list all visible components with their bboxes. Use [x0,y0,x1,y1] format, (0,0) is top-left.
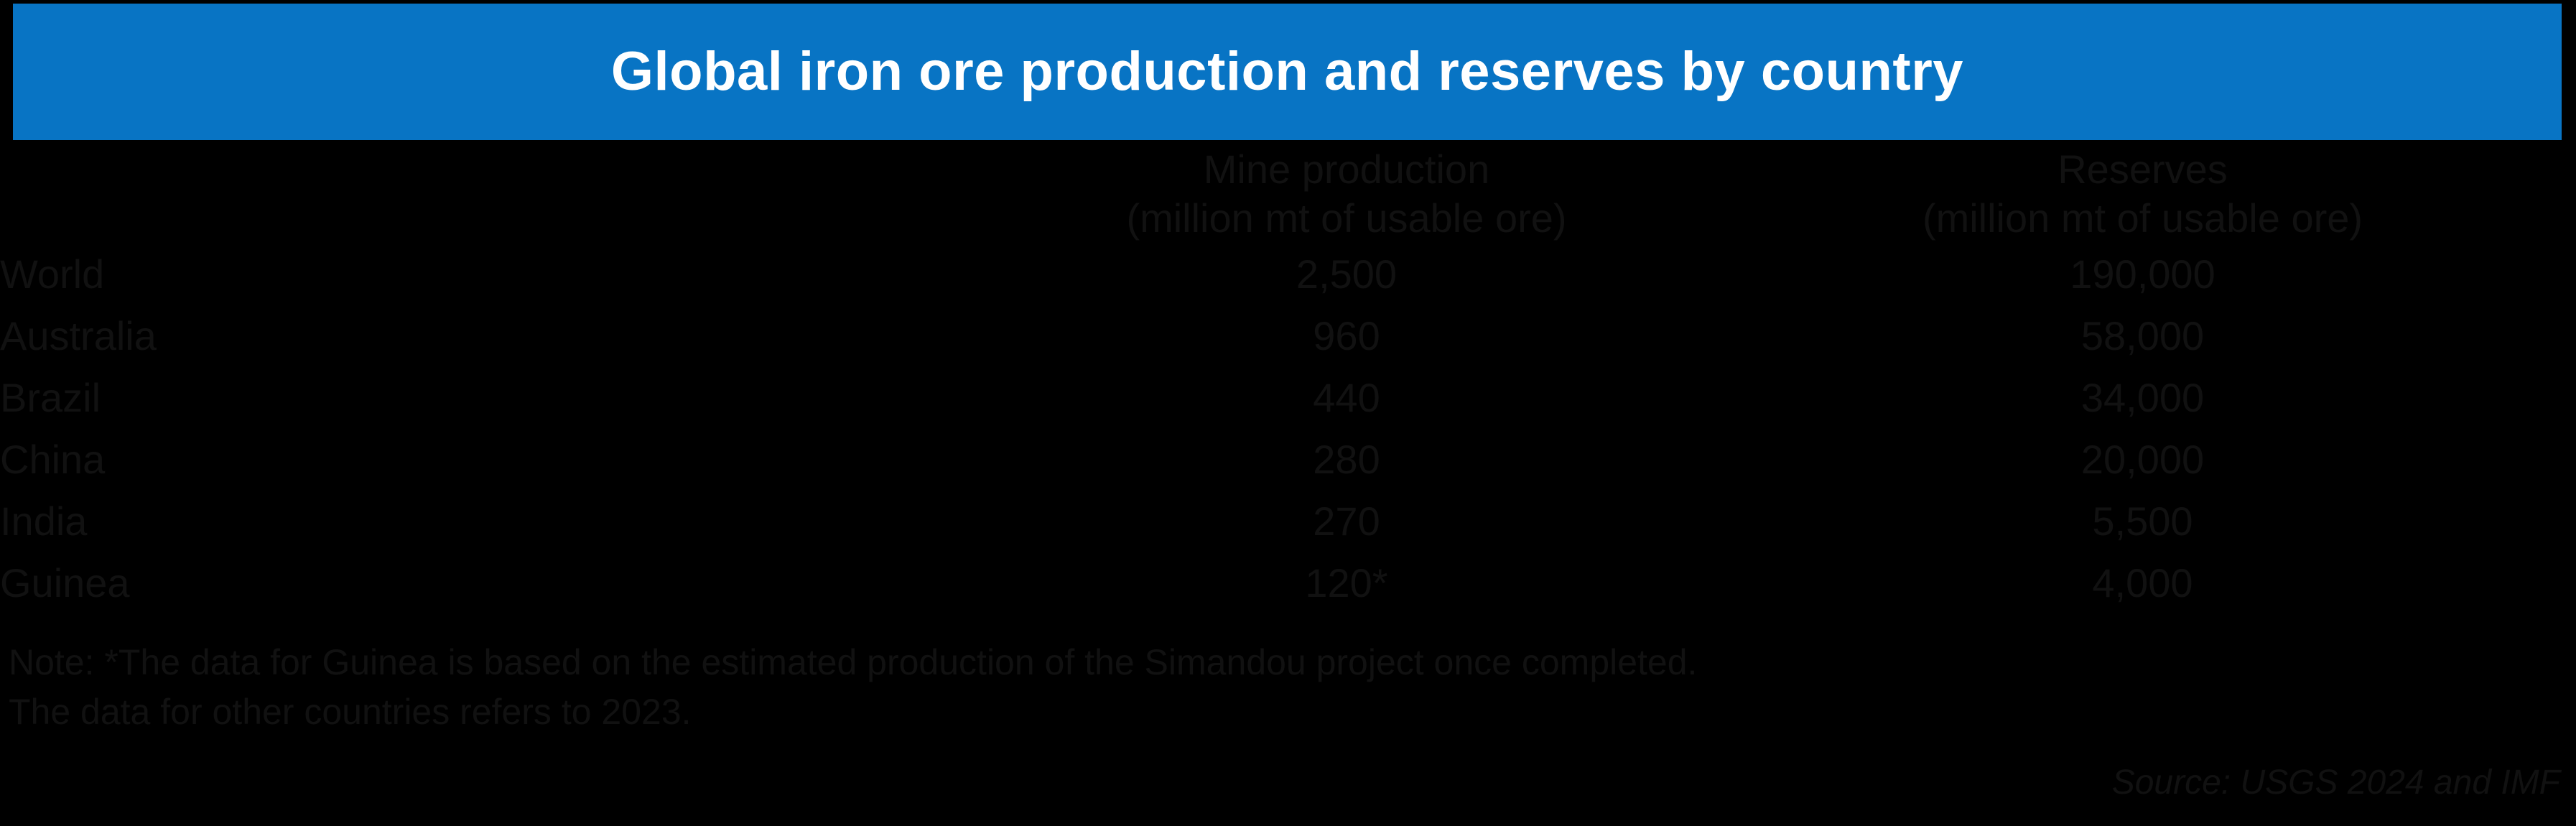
column-header-production-line1: Mine production [984,145,1709,194]
cell-reserves: 20,000 [1709,429,2576,491]
cell-country: Guinea [0,552,984,614]
footnote-line-1: Note: *The data for Guinea is based on t… [9,638,2450,687]
cell-production: 2,500 [984,243,1709,305]
cell-reserves: 58,000 [1709,305,2576,367]
cell-country: India [0,491,984,552]
table-row: India 270 5,500 [0,491,2576,552]
table-row: China 280 20,000 [0,429,2576,491]
cell-country: Australia [0,305,984,367]
column-header-production: Mine production (million mt of usable or… [984,141,1709,243]
cell-reserves: 34,000 [1709,367,2576,429]
table-row: World 2,500 190,000 [0,243,2576,305]
title-bar: Global iron ore production and reserves … [13,4,2562,140]
page-title: Global iron ore production and reserves … [611,45,1963,99]
cell-production: 120* [984,552,1709,614]
column-header-reserves: Reserves (million mt of usable ore) [1709,141,2576,243]
column-header-reserves-line1: Reserves [1709,145,2576,194]
table-body: World 2,500 190,000 Australia 960 58,000… [0,243,2576,614]
header-row: Mine production (million mt of usable or… [0,141,2576,243]
column-header-country [0,141,984,243]
cell-reserves: 190,000 [1709,243,2576,305]
cell-reserves: 4,000 [1709,552,2576,614]
table-row: Brazil 440 34,000 [0,367,2576,429]
table-container: Mine production (million mt of usable or… [0,141,2576,629]
slide-root: Global iron ore production and reserves … [0,0,2576,826]
column-header-reserves-line2: (million mt of usable ore) [1709,194,2576,243]
source-attribution: Source: USGS 2024 and IMF [2112,763,2560,802]
column-header-production-line2: (million mt of usable ore) [984,194,1709,243]
footnote-block: Note: *The data for Guinea is based on t… [9,638,2450,737]
table-row: Australia 960 58,000 [0,305,2576,367]
footnote-line-2: The data for other countries refers to 2… [9,687,2450,737]
table-row: Guinea 120* 4,000 [0,552,2576,614]
cell-country: China [0,429,984,491]
cell-reserves: 5,500 [1709,491,2576,552]
data-table: Mine production (million mt of usable or… [0,141,2576,614]
table-header: Mine production (million mt of usable or… [0,141,2576,243]
cell-production: 960 [984,305,1709,367]
cell-country: Brazil [0,367,984,429]
cell-production: 280 [984,429,1709,491]
cell-country: World [0,243,984,305]
cell-production: 440 [984,367,1709,429]
cell-production: 270 [984,491,1709,552]
